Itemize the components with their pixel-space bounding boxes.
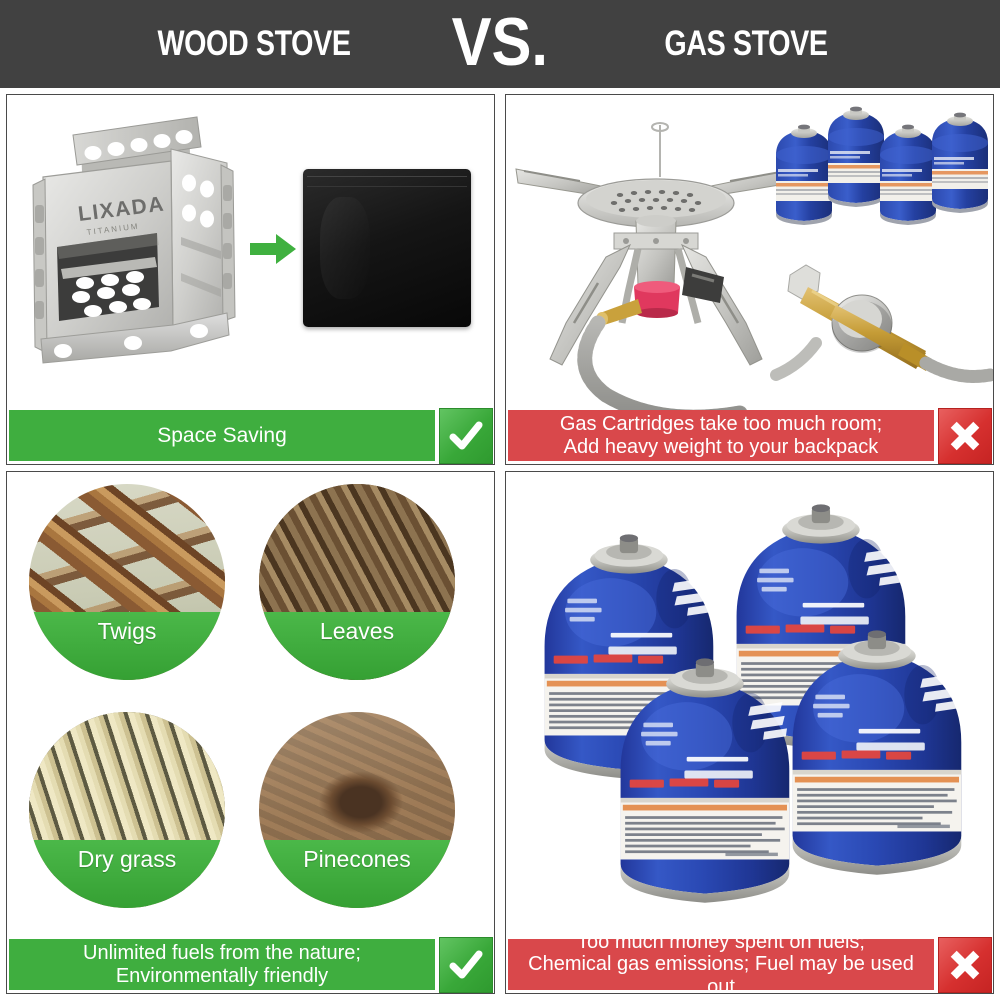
fuel-label: Pinecones — [303, 848, 410, 871]
comparison-infographic: WOOD STOVE VS. GAS STOVE — [0, 0, 1000, 1000]
verdict-line-2: Environmentally friendly — [83, 965, 361, 987]
verdict-banner-text: Space Saving — [9, 410, 435, 461]
fuel-circle-leaves: Leaves — [259, 484, 455, 680]
panel-natural-fuels: Twigs Leaves Dry grass — [6, 471, 495, 994]
panel-gas-canisters: Too much money spent on fuels; Chemical … — [505, 471, 994, 994]
storage-pouch-image — [303, 169, 471, 327]
verdict-row-fuel-cost: Too much money spent on fuels; Chemical … — [506, 937, 993, 993]
verdict-banner-text: Too much money spent on fuels; Chemical … — [508, 939, 934, 990]
verdict-row-unlimited-fuels: Unlimited fuels from the nature; Environ… — [7, 937, 494, 993]
verdict-line-1: Too much money spent on fuels; — [514, 931, 928, 953]
verdict-line-2: Chemical gas emissions; Fuel may be used… — [514, 953, 928, 994]
verdict-line-1: Space Saving — [157, 424, 287, 448]
fuel-label-band: Dry grass — [29, 840, 225, 908]
check-mark-icon — [439, 937, 493, 993]
fuel-label-band: Leaves — [259, 612, 455, 680]
fuel-circle-grid: Twigs Leaves Dry grass — [7, 472, 494, 927]
fuel-label: Twigs — [98, 620, 157, 643]
gas-canister-stack-image — [506, 472, 993, 927]
panel-wood-stove-product: LIXADA TITANIUM — [6, 94, 495, 465]
verdict-banner-text: Gas Cartridges take too much room; Add h… — [508, 410, 934, 461]
panel-gas-stove-product: Gas Cartridges take too much room; Add h… — [505, 94, 994, 465]
header-vs-label: VS. — [452, 10, 548, 75]
verdict-row-gas-cartridges: Gas Cartridges take too much room; Add h… — [506, 408, 993, 464]
pouch-sheen — [320, 197, 370, 298]
fuel-label: Dry grass — [78, 848, 176, 871]
header-bar: WOOD STOVE VS. GAS STOVE — [0, 0, 1000, 88]
verdict-banner-text: Unlimited fuels from the nature; Environ… — [9, 939, 435, 990]
verdict-line-2: Add heavy weight to your backpack — [560, 436, 882, 458]
gas-regulator-hose-image — [776, 247, 991, 382]
gas-cartridge-cluster-image — [768, 101, 993, 231]
cross-mark-icon — [938, 937, 992, 993]
fuel-label-band: Twigs — [29, 612, 225, 680]
gas-stove-image — [510, 117, 800, 437]
cross-mark-icon — [938, 408, 992, 464]
check-mark-icon — [439, 408, 493, 464]
fuel-circle-dry-grass: Dry grass — [29, 712, 225, 908]
verdict-row-space-saving: Space Saving — [7, 408, 494, 464]
fuel-circle-pinecones: Pinecones — [259, 712, 455, 908]
pouch-flap — [307, 176, 467, 187]
wood-stove-image: LIXADA TITANIUM — [21, 101, 251, 391]
header-title-left: WOOD STOVE — [119, 24, 390, 64]
header-title-right: GAS STOVE — [610, 24, 881, 64]
fuel-label: Leaves — [320, 620, 394, 643]
green-arrow-right-icon — [250, 234, 296, 264]
fuel-circle-twigs: Twigs — [29, 484, 225, 680]
verdict-line-1: Gas Cartridges take too much room; — [560, 413, 882, 435]
verdict-line-1: Unlimited fuels from the nature; — [83, 942, 361, 964]
fuel-label-band: Pinecones — [259, 840, 455, 908]
